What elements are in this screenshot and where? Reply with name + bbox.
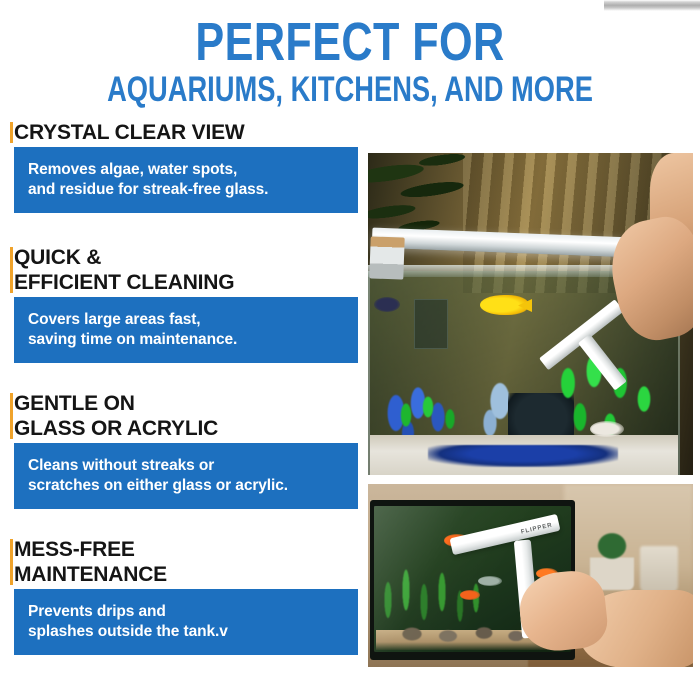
feature-heading-wrap: QUICK & EFFICIENT CLEANING bbox=[0, 245, 366, 295]
feature-title: QUICK & EFFICIENT CLEANING bbox=[14, 245, 366, 295]
product-photo-squeegee-in-hand: FLIPPER bbox=[368, 484, 693, 667]
blue-gravel bbox=[428, 445, 618, 467]
light-mounting-bracket bbox=[369, 236, 404, 279]
feature-description: Covers large areas fast, saving time on … bbox=[28, 310, 358, 350]
accent-bar-icon bbox=[10, 539, 13, 585]
feature-description-box: Cleans without streaks or scratches on e… bbox=[14, 443, 358, 509]
squeegee-blade bbox=[539, 299, 624, 370]
feature-description: Prevents drips and splashes outside the … bbox=[28, 602, 358, 642]
feature-heading-wrap: CRYSTAL CLEAR VIEW bbox=[0, 120, 366, 145]
feature-description: Removes algae, water spots, and residue … bbox=[28, 160, 358, 200]
header: PERFECT FOR AQUARIUMS, KITCHENS, AND MOR… bbox=[0, 0, 700, 120]
feature-title: CRYSTAL CLEAR VIEW bbox=[14, 120, 366, 145]
feature-item-gentle-on-glass-or-acrylic: GENTLE ON GLASS OR ACRYLIC Cleans withou… bbox=[0, 391, 366, 509]
accent-bar-icon bbox=[10, 122, 13, 143]
product-photo-aquarium-cleaning bbox=[368, 153, 693, 475]
feature-list: CRYSTAL CLEAR VIEW Removes algae, water … bbox=[0, 120, 366, 680]
feature-description: Cleans without streaks or scratches on e… bbox=[28, 456, 358, 496]
white-fish bbox=[590, 421, 624, 437]
feature-heading-wrap: GENTLE ON GLASS OR ACRYLIC bbox=[0, 391, 366, 441]
accent-bar-icon bbox=[10, 247, 13, 293]
page-subtitle: AQUARIUMS, KITCHENS, AND MORE bbox=[77, 70, 623, 108]
feature-item-mess-free-maintenance: MESS-FREE MAINTENANCE Prevents drips and… bbox=[0, 537, 366, 655]
feature-item-quick-efficient-cleaning: QUICK & EFFICIENT CLEANING Covers large … bbox=[0, 245, 366, 363]
feature-title: GENTLE ON GLASS OR ACRYLIC bbox=[14, 391, 366, 441]
ceramic-vase bbox=[640, 546, 678, 592]
feature-description-box: Removes algae, water spots, and residue … bbox=[14, 147, 358, 213]
feature-title: MESS-FREE MAINTENANCE bbox=[14, 537, 366, 587]
feature-description-box: Prevents drips and splashes outside the … bbox=[14, 589, 358, 655]
page-title: PERFECT FOR bbox=[70, 0, 630, 70]
accent-bar-icon bbox=[10, 393, 13, 439]
squeegee-handle bbox=[578, 334, 627, 391]
feature-heading-wrap: MESS-FREE MAINTENANCE bbox=[0, 537, 366, 587]
aquarium-filter bbox=[414, 299, 448, 349]
dark-fish bbox=[374, 297, 400, 312]
feature-item-crystal-clear-view: CRYSTAL CLEAR VIEW Removes algae, water … bbox=[0, 120, 366, 213]
feature-description-box: Covers large areas fast, saving time on … bbox=[14, 297, 358, 363]
